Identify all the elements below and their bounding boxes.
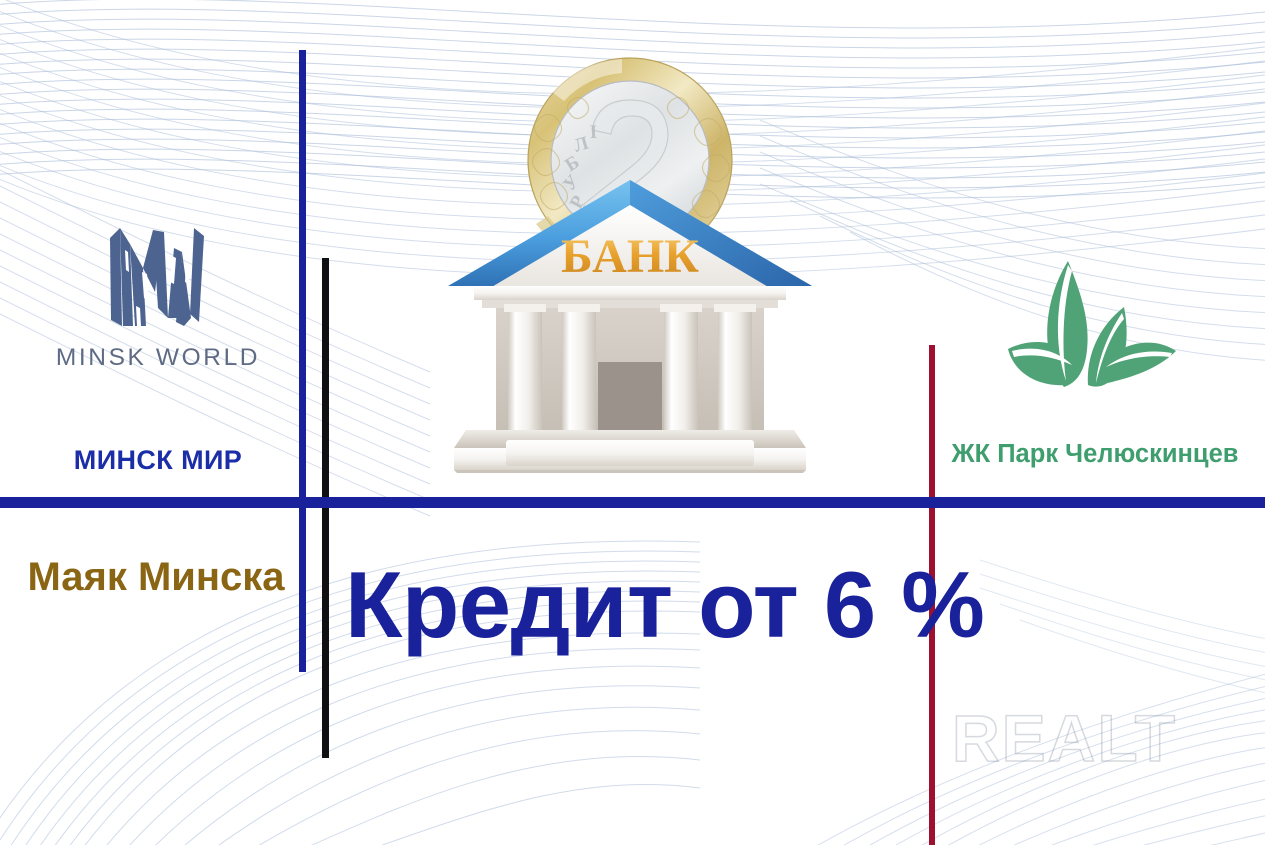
minsk-world-russian-name: МИНСК МИР: [38, 445, 278, 476]
divider-vertical-black: [322, 258, 329, 758]
minsk-world-wordmark: MINSK WORLD: [38, 344, 278, 372]
bank-base: [454, 430, 806, 473]
bank-with-coin-illustration: Р У Б Л І БАНК: [420, 48, 840, 473]
minsk-world-mw-monogram-icon: [106, 222, 210, 330]
bank-entablature: [474, 286, 786, 300]
svg-text:І: І: [589, 122, 597, 143]
divider-horizontal-blue: [0, 497, 1265, 508]
divider-vertical-blue: [299, 50, 306, 672]
minsk-world-logo-block: MINSK WORLD: [38, 222, 278, 372]
park-chelyuskintsev-label: ЖК Парк Челюскинцев: [930, 440, 1260, 469]
bank-doorway: [598, 362, 662, 430]
headline-credit-rate: Кредит от 6 %: [345, 556, 925, 655]
bank-pediment-text: БАНК: [561, 230, 699, 283]
green-leaves-icon: [1006, 245, 1184, 397]
mayak-minska-label: Маяк Минска: [20, 555, 292, 600]
park-chelyuskintsev-logo-block: [935, 245, 1255, 397]
realt-watermark: REALT: [952, 700, 1177, 776]
credit-promo-banner: MINSK WORLD МИНСК МИР Маяк Минска: [0, 0, 1265, 845]
